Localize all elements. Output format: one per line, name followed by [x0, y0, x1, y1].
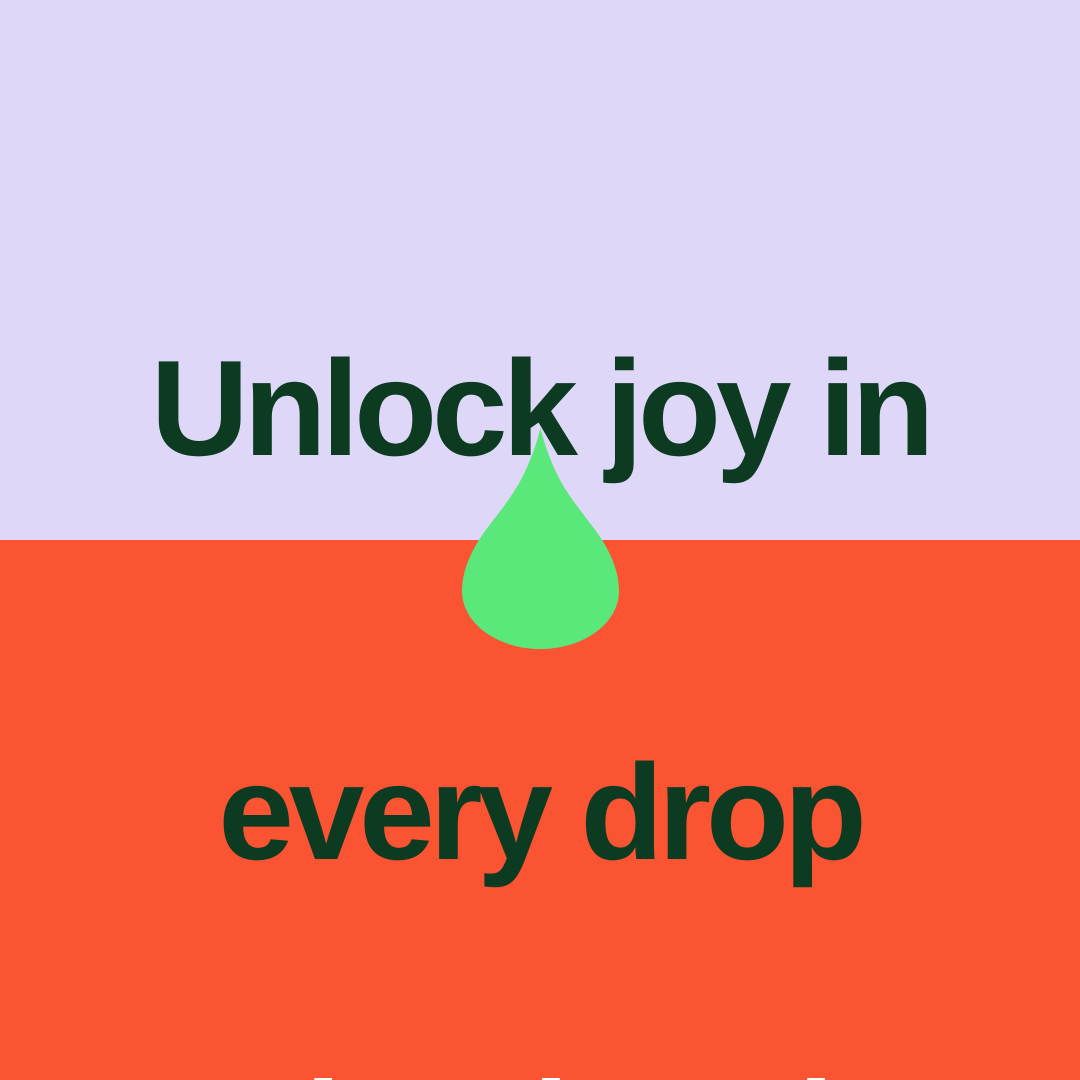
- water-drop-icon: [462, 428, 619, 649]
- subline: Plant-based everyday bliss: [108, 684, 972, 1080]
- subline-line-1: Plant-based: [108, 1042, 972, 1080]
- social-card-canvas: Unlock joy in every drop Plant-based eve…: [0, 0, 1080, 1080]
- water-drop-graphic: [462, 428, 619, 649]
